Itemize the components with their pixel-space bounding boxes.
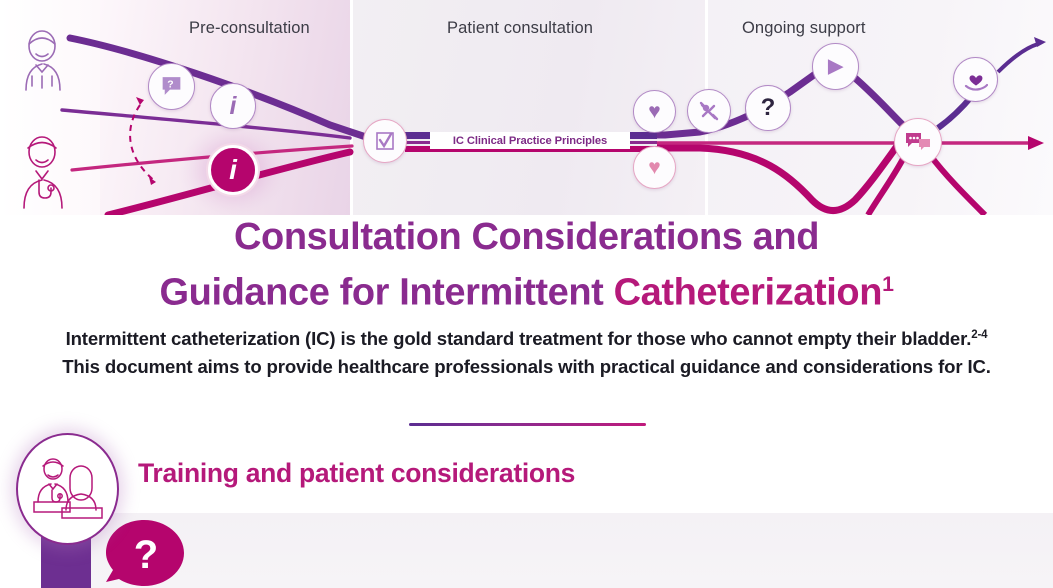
intro-part-1: Intermittent catheterization (IC) is the… <box>66 328 972 349</box>
title-line-1: Consultation Considerations and <box>0 214 1053 261</box>
section-heading: Training and patient considerations <box>138 458 575 489</box>
info-icon[interactable]: i <box>210 83 256 129</box>
checklist-glyph <box>375 131 395 151</box>
heart-glyph: ♥ <box>648 101 660 122</box>
section-divider <box>409 423 646 426</box>
info-highlight-icon[interactable]: i <box>208 145 258 195</box>
considerations-card <box>88 513 1053 588</box>
question-glyph: ? <box>761 96 776 120</box>
heart-outline-icon[interactable]: ♥ <box>633 146 676 189</box>
consultation-illustration-icon <box>30 454 106 524</box>
patient-journey-diagram: Pre-consultation Patient consultation On… <box>0 0 1053 215</box>
hand-heart-glyph <box>964 69 988 91</box>
info-highlight-glyph: i <box>229 156 237 184</box>
ic-clinical-practice-principles-label: IC Clinical Practice Principles <box>430 132 630 149</box>
infographic-page: Pre-consultation Patient consultation On… <box>0 0 1053 588</box>
catheter-tool-glyph <box>698 100 720 122</box>
title-line-2: Guidance for Intermittent Catheterizatio… <box>0 261 1053 317</box>
svg-text:?: ? <box>167 80 173 91</box>
hand-heart-icon[interactable] <box>953 57 998 102</box>
chat-bubbles-glyph <box>905 131 931 153</box>
title-reference-superscript: 1 <box>882 272 893 296</box>
intro-paragraph: Intermittent catheterization (IC) is the… <box>50 322 1003 380</box>
chat-bubbles-icon[interactable] <box>894 118 942 166</box>
title-line-2-magenta: Catheterization <box>614 272 882 314</box>
intro-part-2: This document aims to provide healthcare… <box>62 356 991 377</box>
question-callout-glyph: ? <box>134 533 158 577</box>
heart-outline-glyph: ♥ <box>648 157 660 178</box>
persona-healthcare-professional-male-icon <box>8 130 78 210</box>
heart-icon[interactable]: ♥ <box>633 90 676 133</box>
catheter-tool-icon[interactable] <box>687 89 731 133</box>
checklist-icon[interactable] <box>363 119 407 163</box>
question-bubble-glyph: ? <box>159 74 184 99</box>
intro-references-superscript: 2-4 <box>971 329 987 341</box>
journey-flow-lines <box>0 0 1053 215</box>
consultation-illustration-badge <box>16 433 119 545</box>
page-title: Consultation Considerations and Guidance… <box>0 214 1053 317</box>
play-icon[interactable]: ▶ <box>812 43 859 90</box>
question-callout-icon[interactable]: ? <box>104 518 188 588</box>
play-glyph: ▶ <box>828 57 843 76</box>
question-icon[interactable]: ? <box>745 85 791 131</box>
info-glyph: i <box>230 94 237 119</box>
question-bubble-icon[interactable]: ? <box>148 63 195 110</box>
title-line-2-purple: Guidance for Intermittent <box>159 272 613 314</box>
persona-healthcare-professional-female-icon <box>8 24 78 92</box>
